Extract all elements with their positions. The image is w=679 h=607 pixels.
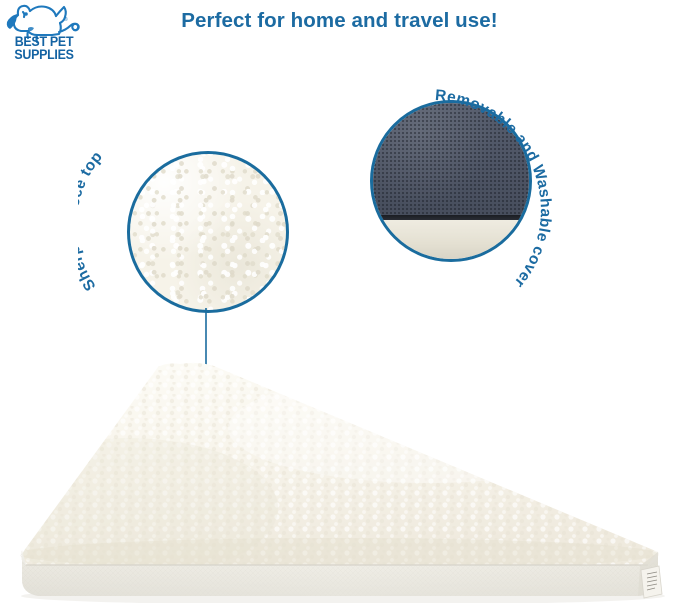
callout-swatch-washable-cover bbox=[370, 100, 532, 262]
brand-name: BEST PET SUPPLIES bbox=[9, 35, 79, 61]
product-dog-bed bbox=[8, 358, 672, 603]
fleece-texture bbox=[127, 151, 289, 313]
foam-base bbox=[373, 220, 529, 259]
bed-top-surface bbox=[8, 358, 672, 578]
callout-label-sherpa-fleece-text: Sherpa Fleece top bbox=[78, 148, 106, 293]
product-infographic: ® BEST PET SUPPLIES Perfect for home and… bbox=[0, 0, 679, 607]
care-label-tag bbox=[641, 566, 662, 598]
page-headline: Perfect for home and travel use! bbox=[0, 9, 679, 33]
brand-name-line2: SUPPLIES bbox=[9, 48, 79, 61]
cover-fabric-texture bbox=[373, 103, 529, 215]
cover-fabric bbox=[373, 103, 529, 215]
callout-swatch-sherpa-fleece bbox=[127, 151, 289, 313]
